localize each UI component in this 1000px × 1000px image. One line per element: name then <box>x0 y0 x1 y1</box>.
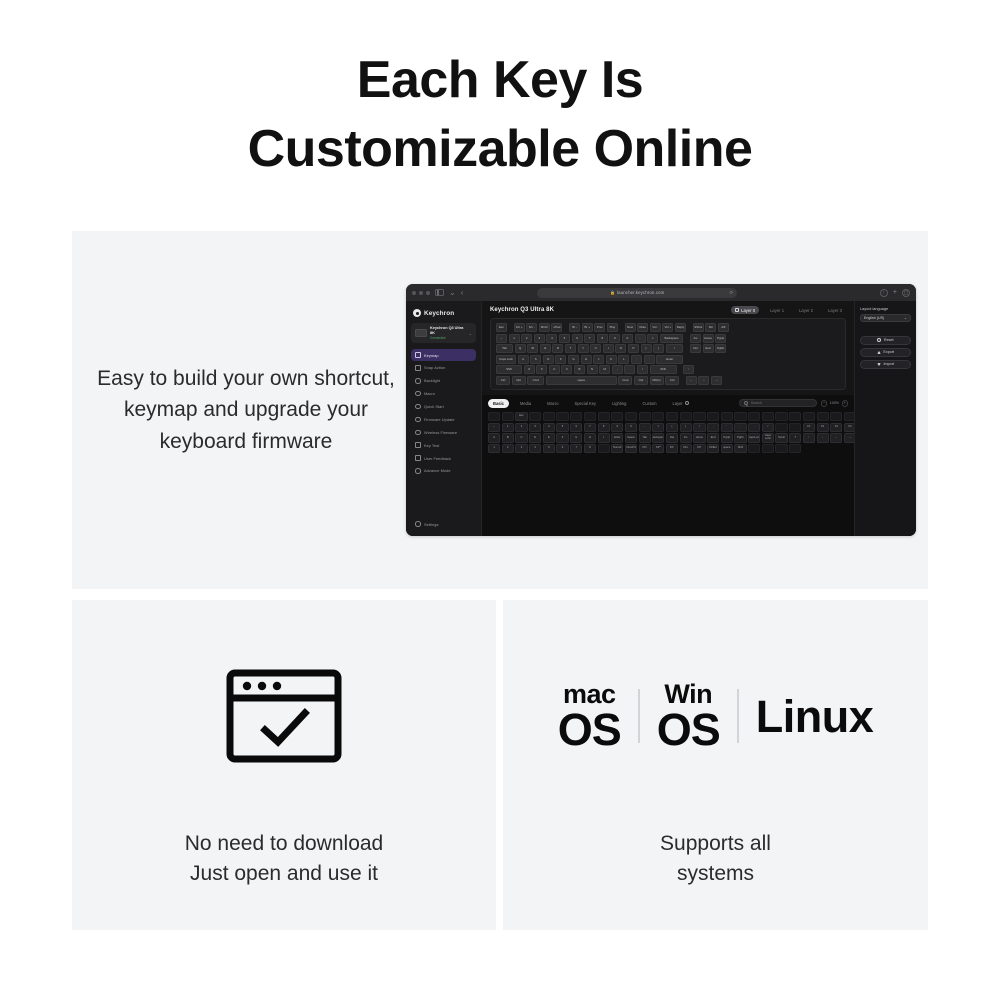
sidebar-item-key-test[interactable]: Key Test <box>411 439 476 451</box>
keycode-key[interactable]: Scroll <box>775 433 787 442</box>
refresh-icon[interactable]: ⟳ <box>729 290 733 296</box>
feature-card-customization: Easy to build your own shortcut, keymap … <box>72 231 928 589</box>
zoom-out-icon[interactable]: − <box>821 400 828 407</box>
keyboard-key[interactable]: Ins <box>690 334 701 343</box>
tab-layer-3[interactable]: Layer 3 <box>824 306 846 314</box>
keyboard-key[interactable]: MCtrl <box>539 323 550 332</box>
keycode-row: ABCDEFGHIEnterSpaceTabBackspaceDelInsHom… <box>488 433 848 442</box>
sidebar-item-backlight[interactable]: Backlight <box>411 375 476 387</box>
keyboard-key[interactable]: LPad <box>551 323 562 332</box>
keycode-key[interactable]: 8 <box>584 444 596 453</box>
keyboard-key[interactable]: U <box>590 344 601 353</box>
tab-label: Layer <box>673 401 683 406</box>
tab-label: Layer 0 <box>741 308 755 313</box>
keycode-key[interactable]: Caps Lock <box>762 433 774 442</box>
export-button[interactable]: Export <box>860 348 911 357</box>
keycode-key[interactable] <box>556 412 568 421</box>
keyboard-key[interactable]: ] <box>653 344 664 353</box>
sidebar-item-label: Keymap <box>424 353 439 358</box>
keyboard-key[interactable]: [ <box>641 344 652 353</box>
keymap-icon <box>415 352 421 358</box>
keyboard-key[interactable]: Vol - <box>650 323 661 332</box>
keycode-key[interactable]: ' <box>721 423 733 432</box>
caption-line-2: systems <box>660 859 771 889</box>
keycode-key[interactable]: 7 <box>570 444 582 453</box>
card-caption: Supports all systems <box>660 829 771 889</box>
keycode-key[interactable] <box>611 412 623 421</box>
button-label: Export <box>883 350 894 354</box>
reset-icon <box>877 338 881 342</box>
sidebar-item-macro[interactable]: Macro <box>411 388 476 400</box>
keyboard-spacer <box>509 323 513 332</box>
keyboard-key[interactable]: C <box>549 365 560 374</box>
keycode-key[interactable]: NumLk <box>611 444 623 453</box>
keycode-key[interactable]: 6 <box>570 423 582 432</box>
keycode-key[interactable]: NumPd <box>625 444 637 453</box>
keycode-key[interactable]: Shift <box>734 444 746 453</box>
keyboard-key[interactable]: , <box>612 365 623 374</box>
keycode-key[interactable] <box>789 412 801 421</box>
keyboard-key[interactable]: Enter <box>656 355 683 364</box>
launcher-app-screenshot: ⌄ ‹ 🔒 launcher.keychron.com ⟳ ↑ + ▢ <box>406 284 916 536</box>
keyboard-key[interactable]: Ctrl <box>496 376 510 385</box>
keycode-key[interactable]: 9 <box>611 423 623 432</box>
keyboard-key[interactable]: ~ <box>496 334 507 343</box>
keyboard-key[interactable]: 0 <box>622 334 633 343</box>
keyboard-key[interactable]: PgUp <box>715 334 726 343</box>
keyboard-key[interactable]: ' <box>644 355 655 364</box>
keyboard-key[interactable]: Vol + <box>662 323 673 332</box>
browser-toolbar-right: ↑ + ▢ <box>880 289 910 297</box>
sidebar-item-firmware-update[interactable]: Firmware Update <box>411 414 476 426</box>
main-title: Keychron Q3 Ultra 8K <box>490 307 554 313</box>
url-text: launcher.keychron.com <box>617 290 664 295</box>
keyboard-key[interactable]: A <box>518 355 529 364</box>
keycode-key[interactable]: 4 <box>543 423 555 432</box>
keycode-key[interactable]: [ <box>666 423 678 432</box>
keyboard-key[interactable]: Backspace <box>660 334 684 343</box>
browser-window-check-icon <box>225 668 343 764</box>
keycode-key[interactable]: B <box>502 433 514 442</box>
keycode-key[interactable] <box>775 423 787 432</box>
keycode-key[interactable] <box>543 412 555 421</box>
lock-icon <box>735 308 739 312</box>
keycode-key[interactable]: F <box>556 433 568 442</box>
keyboard-key[interactable]: 1 <box>509 334 520 343</box>
keycode-key[interactable]: Backspace <box>652 433 664 442</box>
keyboard-key[interactable]: R <box>552 344 563 353</box>
keycode-row: ~1234567890-=[]\;',./F1F2F3F4 <box>488 423 848 432</box>
keycode-key[interactable]: I <box>598 433 610 442</box>
keyboard-key[interactable]: Home <box>703 334 714 343</box>
keyboard-key[interactable]: Del <box>690 344 701 353</box>
chevron-left-icon[interactable]: ‹ <box>461 289 464 297</box>
keycode-key[interactable]: ~ <box>488 423 500 432</box>
sidebar-item-wireless-firmware[interactable]: Wireless Firmware <box>411 426 476 438</box>
sidebar-item-label: Firmware Update <box>424 417 455 422</box>
sidebar-item-label: User Feedback <box>424 456 451 461</box>
keycode-picker: Basic Media Macro Special Key Lighting C… <box>482 395 854 536</box>
keycode-key[interactable]: 8 <box>598 423 610 432</box>
info-icon[interactable] <box>685 401 689 405</box>
url-bar[interactable]: 🔒 launcher.keychron.com ⟳ <box>537 288 737 298</box>
keycode-key[interactable]: 3 <box>515 444 527 453</box>
snap-action-icon <box>415 365 421 371</box>
keycode-key[interactable]: C <box>515 433 527 442</box>
tab-layer-1[interactable]: Layer 1 <box>766 306 788 314</box>
caption-line-1: Supports all <box>660 829 771 859</box>
keyboard-key[interactable]: Mute <box>637 323 648 332</box>
keycode-key[interactable]: KP- <box>666 444 678 453</box>
keycode-key[interactable] <box>830 412 842 421</box>
sidebar-toggle-icon[interactable] <box>435 289 444 296</box>
keycode-key[interactable]: CapsLock <box>748 433 760 442</box>
keyboard-key[interactable]: Y <box>578 344 589 353</box>
keycode-key[interactable]: 5 <box>556 423 568 432</box>
keycode-key[interactable]: E <box>543 433 555 442</box>
chevron-down-icon[interactable]: ⌄ <box>469 331 472 336</box>
keycode-grid[interactable]: Esc~1234567890-=[]\;',./F1F2F3F4ABCDEFGH… <box>488 412 848 453</box>
page-title: Each Key Is Customizable Online <box>0 0 1000 183</box>
keyboard-key[interactable]: S <box>530 355 541 364</box>
zoom-in-icon[interactable]: + <box>842 400 849 407</box>
keyboard-key[interactable]: ← <box>686 376 697 385</box>
keyboard-key[interactable]: 4 <box>546 334 557 343</box>
keyboard-key[interactable]: D <box>543 355 554 364</box>
keyboard-key[interactable]: MO(1) <box>650 376 664 385</box>
sidebar-item-label: Wireless Firmware <box>424 430 457 435</box>
keycode-key[interactable]: End <box>707 433 719 442</box>
backlight-icon <box>415 378 421 384</box>
keyboard-key[interactable]: Play <box>607 323 618 332</box>
keyboard-key[interactable]: 9 <box>609 334 620 343</box>
keyboard-key[interactable]: N <box>587 365 598 374</box>
keycode-key[interactable]: Space <box>625 433 637 442</box>
user-feedback-icon <box>415 455 421 461</box>
keycode-key[interactable]: Enter <box>611 433 623 442</box>
keycode-key[interactable]: 6 <box>556 444 568 453</box>
keyboard-key[interactable]: O <box>615 344 626 353</box>
keycode-key[interactable]: ; <box>707 423 719 432</box>
keycode-key[interactable]: 7 <box>584 423 596 432</box>
keyboard-key[interactable]: M <box>599 365 610 374</box>
advance-mode-icon <box>415 468 421 474</box>
layout-language-select[interactable]: English (US) ⌄ <box>860 314 911 322</box>
keycode-key[interactable]: - <box>639 423 651 432</box>
keycode-key[interactable] <box>584 412 596 421</box>
keycode-key[interactable]: / <box>762 423 774 432</box>
keycode-key[interactable]: ] <box>680 423 692 432</box>
keyboard-key[interactable]: . <box>624 365 635 374</box>
sidebar-item-label: Snap Action <box>424 365 445 370</box>
keycode-key[interactable]: 2 <box>502 444 514 453</box>
window-traffic-lights[interactable] <box>412 291 430 295</box>
app-sidebar: Keychron Keychron Q3 Ultra 8K Connected … <box>406 301 482 536</box>
keycode-key[interactable]: G <box>570 433 582 442</box>
keychron-logo-icon <box>413 309 421 317</box>
sidebar-item-label: Backlight <box>424 378 440 383</box>
keyboard-key[interactable]: \ <box>666 344 684 353</box>
os-logos-area: mac OS Win OS Linux <box>541 641 891 791</box>
keyboard-key[interactable]: L <box>618 355 629 364</box>
keyboard-key[interactable]: Z <box>524 365 535 374</box>
zoom-controls: − 100% + <box>821 400 848 407</box>
keyboard-key[interactable]: W <box>527 344 538 353</box>
launcher-app-body: Keychron Keychron Q3 Ultra 8K Connected … <box>406 301 916 536</box>
search-input[interactable]: Search <box>739 399 817 407</box>
browser-window-check-icon-area <box>225 641 343 791</box>
keycode-key[interactable] <box>680 412 692 421</box>
keyboard-key[interactable]: Opt <box>512 376 526 385</box>
keycode-key[interactable]: F3 <box>830 423 842 432</box>
keyboard-key[interactable]: SShot <box>693 323 704 332</box>
export-icon <box>877 351 881 354</box>
keyboard-key[interactable]: Shift <box>496 365 522 374</box>
feature-card-blurb: Easy to build your own shortcut, keymap … <box>72 363 402 458</box>
layout-language-value: English (US) <box>864 316 884 320</box>
keycode-key[interactable]: \ <box>693 423 705 432</box>
keyboard-key[interactable]: PgDn <box>715 344 726 353</box>
keycode-key[interactable]: ↓ <box>817 433 829 442</box>
keyboard-row: Caps LockASDFGHJKL;'Enter <box>496 355 840 364</box>
keycode-key[interactable]: 1 <box>502 423 514 432</box>
keyboard-key[interactable]: End <box>703 344 714 353</box>
keycode-key[interactable]: PgDn <box>734 433 746 442</box>
import-button[interactable]: Import <box>860 360 911 369</box>
keyboard-key[interactable]: Prev <box>594 323 605 332</box>
keyboard-key[interactable]: Tab <box>496 344 513 353</box>
keycode-key[interactable]: F1 <box>803 423 815 432</box>
tab-basic[interactable]: Basic <box>488 399 509 408</box>
keycode-key[interactable]: . <box>748 423 760 432</box>
keycode-key[interactable] <box>693 412 705 421</box>
tabs-overview-icon[interactable]: ▢ <box>902 289 910 297</box>
tab-layer-0[interactable]: Layer 0 <box>731 306 759 314</box>
caption-line-1: No need to download <box>185 829 384 859</box>
keyboard-key[interactable]: Shift <box>650 365 677 374</box>
keycode-key[interactable] <box>734 412 746 421</box>
os-logo-row: mac OS Win OS Linux <box>541 682 891 751</box>
keycode-key[interactable]: PgUp <box>721 433 733 442</box>
keyboard-key[interactable]: Ctrl <box>665 376 679 385</box>
device-thumbnail-icon <box>415 329 427 337</box>
keycode-key[interactable]: space <box>721 444 733 453</box>
keyboard-key[interactable]: X <box>536 365 547 374</box>
keyboard-key[interactable]: G <box>568 355 579 364</box>
keycode-key[interactable]: 4 <box>529 444 541 453</box>
feature-card-no-download: No need to download Just open and use it <box>72 600 496 930</box>
keycode-key[interactable]: 5 <box>543 444 555 453</box>
plus-icon[interactable]: + <box>893 289 897 296</box>
keycode-key[interactable]: KP/ <box>639 444 651 453</box>
sidebar-item-label: Advance Mode <box>424 468 451 473</box>
keyboard-key[interactable]: V <box>561 365 572 374</box>
device-name: Keychron Q3 Ultra 8K <box>430 326 466 335</box>
keycode-key[interactable]: ← <box>830 433 842 442</box>
keyboard-key[interactable]: Opt <box>634 376 648 385</box>
keyboard-key[interactable]: K <box>606 355 617 364</box>
keycode-key[interactable] <box>748 412 760 421</box>
keyboard-key[interactable]: P <box>628 344 639 353</box>
keyboard-key[interactable]: ; <box>631 355 642 364</box>
sidebar-spacer <box>411 477 476 518</box>
keycode-key[interactable] <box>625 412 637 421</box>
keyboard-key[interactable]: 6 <box>572 334 583 343</box>
keycode-key[interactable] <box>707 412 719 421</box>
keyboard-key[interactable]: Alfr <box>718 323 729 332</box>
keycode-key[interactable]: Del <box>666 433 678 442</box>
keycode-key[interactable] <box>529 412 541 421</box>
sidebar-item-label: Quick Start <box>424 404 444 409</box>
keycode-key[interactable] <box>652 412 664 421</box>
keycode-key[interactable]: KP+ <box>680 444 692 453</box>
keycode-key[interactable] <box>803 412 815 421</box>
tab-custom[interactable]: Custom <box>637 399 661 408</box>
keycode-key[interactable]: 1 <box>488 444 500 453</box>
tab-layer[interactable]: Layer <box>668 399 694 408</box>
tab-macro[interactable]: Macro <box>542 399 563 408</box>
page-title-line-2: Customizable Online <box>0 115 1000 184</box>
device-status: Connected <box>430 336 466 340</box>
keycode-key[interactable] <box>502 412 514 421</box>
tab-media[interactable]: Media <box>515 399 536 408</box>
keycode-key[interactable]: 0 <box>625 423 637 432</box>
keyboard-spacer <box>685 344 689 353</box>
keycode-key[interactable]: 3 <box>529 423 541 432</box>
keycode-key[interactable]: KPEnt <box>707 444 719 453</box>
keyboard-key[interactable]: Br - <box>569 323 580 332</box>
keyboard-key[interactable]: Siri <box>705 323 716 332</box>
keyboard-key[interactable]: 3 <box>534 334 545 343</box>
sidebar-item-settings[interactable]: Settings <box>411 518 476 530</box>
keycode-key[interactable] <box>488 412 500 421</box>
sidebar-nav-bottom: Settings <box>411 518 476 536</box>
keyboard-key[interactable]: H <box>581 355 592 364</box>
os-logo-linux: Linux <box>739 695 891 738</box>
wireless-firmware-icon <box>415 430 421 436</box>
keyboard-key[interactable]: - <box>635 334 646 343</box>
keycode-key[interactable]: ? <box>789 433 801 442</box>
keyboard-row: EscScr +Scr -MCtrlLPadBr -Br +PrevPlayNe… <box>496 323 840 332</box>
keycode-key[interactable] <box>789 444 801 453</box>
keycode-key[interactable] <box>666 412 678 421</box>
close-icon[interactable] <box>412 291 416 295</box>
keycode-key[interactable]: Home <box>693 433 705 442</box>
keyboard-key[interactable]: Caps Lock <box>496 355 516 364</box>
keyboard-canvas[interactable]: EscScr +Scr -MCtrlLPadBr -Br +PrevPlayNe… <box>490 318 846 390</box>
keycode-key[interactable]: Ins <box>680 433 692 442</box>
maximize-icon[interactable] <box>426 291 430 295</box>
keycode-key[interactable]: KP. <box>693 444 705 453</box>
keyboard-row: ~1234567890-=BackspaceInsHomePgUp <box>496 334 840 343</box>
share-icon[interactable]: ↑ <box>880 289 888 297</box>
sidebar-item-advance-mode[interactable]: Advance Mode <box>411 465 476 477</box>
keyboard-spacer <box>688 323 692 332</box>
keycode-key[interactable]: 2 <box>515 423 527 432</box>
keyboard-key[interactable]: Cmd <box>527 376 544 385</box>
keycode-key[interactable] <box>775 444 787 453</box>
tab-special-key[interactable]: Special Key <box>569 399 601 408</box>
keyboard-key[interactable]: 7 <box>584 334 595 343</box>
keycode-key[interactable]: H <box>584 433 596 442</box>
keycode-key[interactable] <box>598 444 610 453</box>
keycode-key[interactable]: KP* <box>652 444 664 453</box>
keyboard-key[interactable]: Q <box>515 344 526 353</box>
keyboard-key[interactable]: J <box>593 355 604 364</box>
reset-button[interactable]: Reset <box>860 336 911 345</box>
brand-name: Keychron <box>424 310 454 317</box>
search-placeholder: Search <box>751 401 762 405</box>
sidebar-item-quick-start[interactable]: Quick Start <box>411 401 476 413</box>
import-icon <box>877 363 881 366</box>
keycode-key[interactable] <box>721 412 733 421</box>
keycode-key[interactable]: Esc <box>515 412 527 421</box>
keycode-key[interactable]: , <box>734 423 746 432</box>
keyboard-key[interactable]: → <box>711 376 722 385</box>
device-meta: Keychron Q3 Ultra 8K Connected <box>430 326 466 340</box>
app-main: Keychron Q3 Ultra 8K Layer 0 Layer 1 Lay… <box>482 301 854 536</box>
sidebar-item-keymap[interactable]: Keymap <box>411 349 476 361</box>
minimize-icon[interactable] <box>419 291 423 295</box>
keyboard-key[interactable]: / <box>637 365 648 374</box>
keyboard-key[interactable]: Scr + <box>514 323 525 332</box>
keyboard-key[interactable]: Scr - <box>526 323 537 332</box>
keycode-key[interactable]: D <box>529 433 541 442</box>
keycode-key[interactable]: A <box>488 433 500 442</box>
keycode-key[interactable] <box>817 412 829 421</box>
keyboard-key[interactable]: space <box>546 376 617 385</box>
keycode-key[interactable] <box>639 412 651 421</box>
tab-layer-2[interactable]: Layer 2 <box>795 306 817 314</box>
keycode-key[interactable] <box>598 412 610 421</box>
keyboard-key[interactable]: T <box>565 344 576 353</box>
keycode-key[interactable] <box>775 412 787 421</box>
keycode-key[interactable]: Tab <box>639 433 651 442</box>
keyboard-key[interactable]: 5 <box>559 334 570 343</box>
tab-lighting[interactable]: Lighting <box>607 399 631 408</box>
keycode-key[interactable]: ↑ <box>803 433 815 442</box>
keyboard-key[interactable]: Cmd <box>618 376 632 385</box>
keyboard-key[interactable]: I <box>603 344 614 353</box>
keyboard-key[interactable]: B <box>574 365 585 374</box>
main-header: Keychron Q3 Ultra 8K Layer 0 Layer 1 Lay… <box>482 301 854 318</box>
keycode-key[interactable]: = <box>652 423 664 432</box>
keyboard-key[interactable]: Reply <box>675 323 686 332</box>
keyboard-key[interactable]: F <box>555 355 566 364</box>
button-label: Import <box>884 362 894 366</box>
sidebar-item-user-feedback[interactable]: User Feedback <box>411 452 476 464</box>
keyboard-key[interactable]: Esc <box>496 323 507 332</box>
keyboard-key[interactable]: Next <box>625 323 636 332</box>
device-selector[interactable]: Keychron Q3 Ultra 8K Connected ⌄ <box>411 323 476 343</box>
keycode-key[interactable] <box>570 412 582 421</box>
keyboard-key[interactable]: 2 <box>521 334 532 343</box>
keycode-key[interactable] <box>748 444 760 453</box>
keyboard-key[interactable]: ↓ <box>698 376 709 385</box>
layout-language-label: Layout language <box>860 307 911 311</box>
keycode-key[interactable] <box>789 423 801 432</box>
keyboard-key[interactable]: 8 <box>597 334 608 343</box>
keycode-key[interactable] <box>762 444 774 453</box>
keycode-key[interactable] <box>762 412 774 421</box>
sidebar-item-snap-action[interactable]: Snap Action <box>411 362 476 374</box>
keyboard-key[interactable]: E <box>540 344 551 353</box>
keycode-key[interactable]: F2 <box>817 423 829 432</box>
keyboard-key[interactable]: ↑ <box>683 365 694 374</box>
keyboard-key[interactable]: = <box>647 334 658 343</box>
keyboard-key[interactable]: Br + <box>582 323 593 332</box>
chevron-down-icon[interactable]: ⌄ <box>449 289 456 297</box>
